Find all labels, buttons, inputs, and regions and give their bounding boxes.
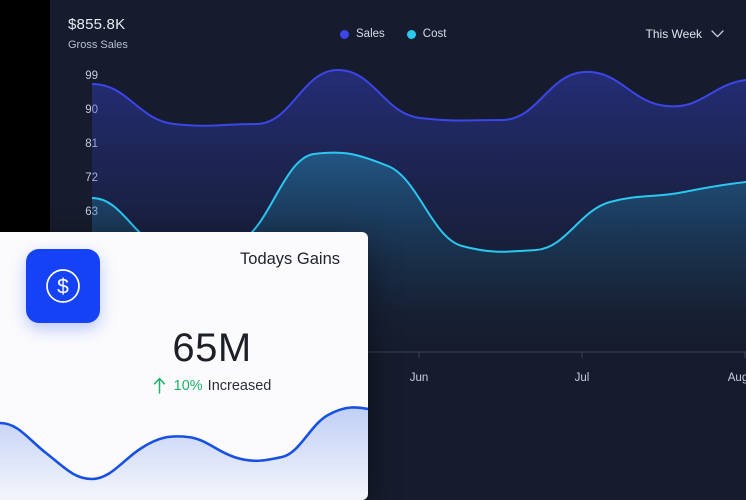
todays-gains-card: $ Todays Gains 65M 10% Increased (0, 232, 368, 500)
arrow-up-icon (153, 377, 166, 394)
legend-item-cost[interactable]: Cost (407, 28, 447, 40)
delta-percent: 10% (174, 378, 203, 394)
dollar-circle-icon: $ (26, 249, 100, 323)
card-sparkline (0, 395, 368, 500)
gross-sales-kpi: $855.8K Gross Sales (68, 16, 128, 52)
panel-header: $855.8K Gross Sales Sales Cost This Week (50, 0, 746, 62)
delta-word: Increased (208, 378, 272, 394)
legend-dot-sales (340, 30, 349, 39)
card-value: 65M (0, 326, 368, 370)
x-tick: Jul (575, 372, 590, 384)
time-range-dropdown[interactable]: This Week (646, 27, 724, 41)
time-range-label: This Week (646, 27, 702, 41)
sparkline-area (0, 407, 368, 500)
legend-label-sales: Sales (356, 28, 385, 40)
legend-label-cost: Cost (423, 28, 447, 40)
svg-text:$: $ (57, 276, 69, 299)
legend-item-sales[interactable]: Sales (340, 28, 385, 40)
kpi-label: Gross Sales (68, 39, 128, 52)
card-title: Todays Gains (240, 250, 340, 269)
x-tick: Jun (410, 372, 429, 384)
x-tick: Aug (728, 372, 746, 384)
kpi-value: $855.8K (68, 16, 128, 34)
card-delta: 10% Increased (0, 377, 368, 394)
legend-dot-cost (407, 30, 416, 39)
chart-legend: Sales Cost (340, 28, 446, 40)
dollar-circle-glyph: $ (42, 265, 84, 307)
screenshot-root: $855.8K Gross Sales Sales Cost This Week (0, 0, 746, 500)
chevron-down-icon (711, 30, 724, 38)
